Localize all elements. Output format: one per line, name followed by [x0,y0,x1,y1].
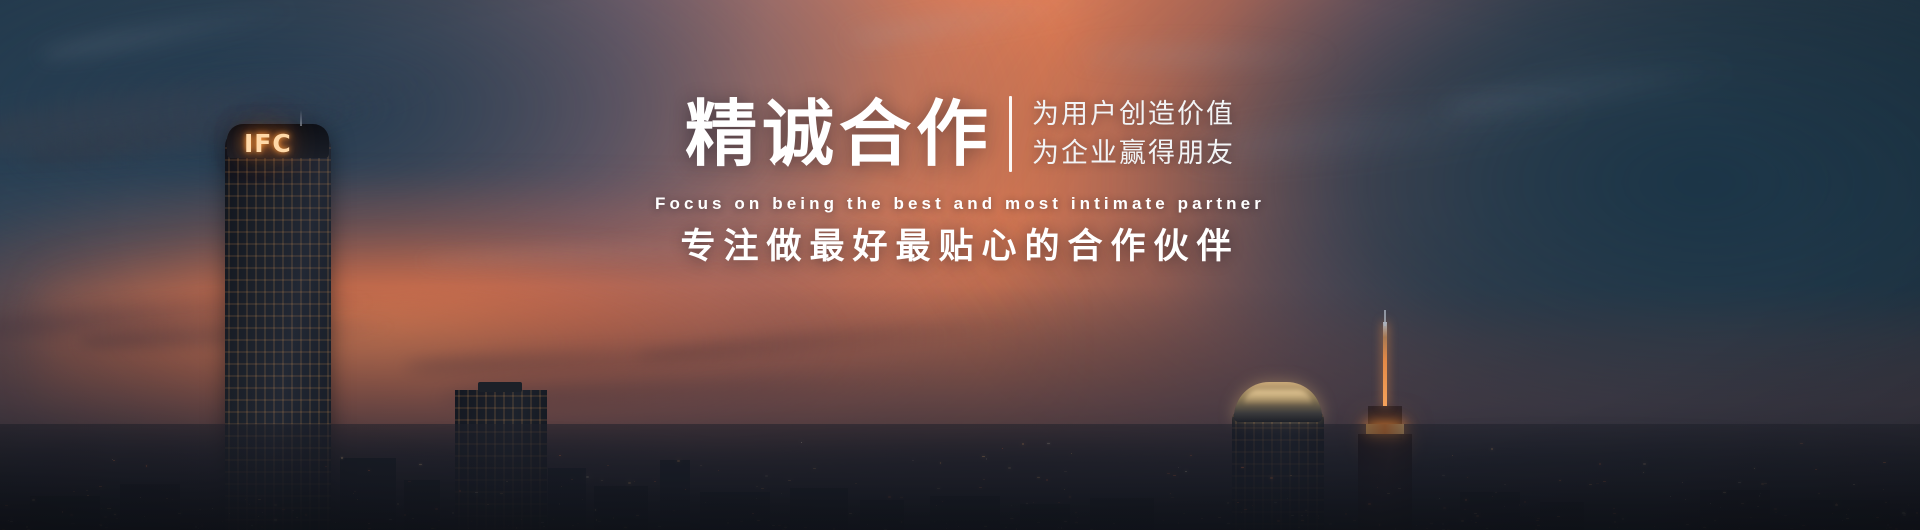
slogan-column: 为用户创造价值 为企业赢得朋友 [1032,101,1235,167]
slogan-line-1: 为用户创造价值 [1032,101,1235,128]
tagline-chinese: 专注做最好最贴心的合作伙伴 [680,230,1239,265]
banner-content: 精诚合作 为用户创造价值 为企业赢得朋友 Focus on being the … [0,0,1920,530]
tagline-english: Focus on being the best and most intimat… [655,194,1265,214]
headline-row: 精诚合作 为用户创造价值 为企业赢得朋友 [685,96,1235,172]
slogan-line-2: 为企业赢得朋友 [1032,140,1235,167]
hero-banner: IFC 精诚合作 [0,0,1920,530]
page-title: 精诚合作 [685,98,993,170]
title-divider [1009,96,1012,172]
